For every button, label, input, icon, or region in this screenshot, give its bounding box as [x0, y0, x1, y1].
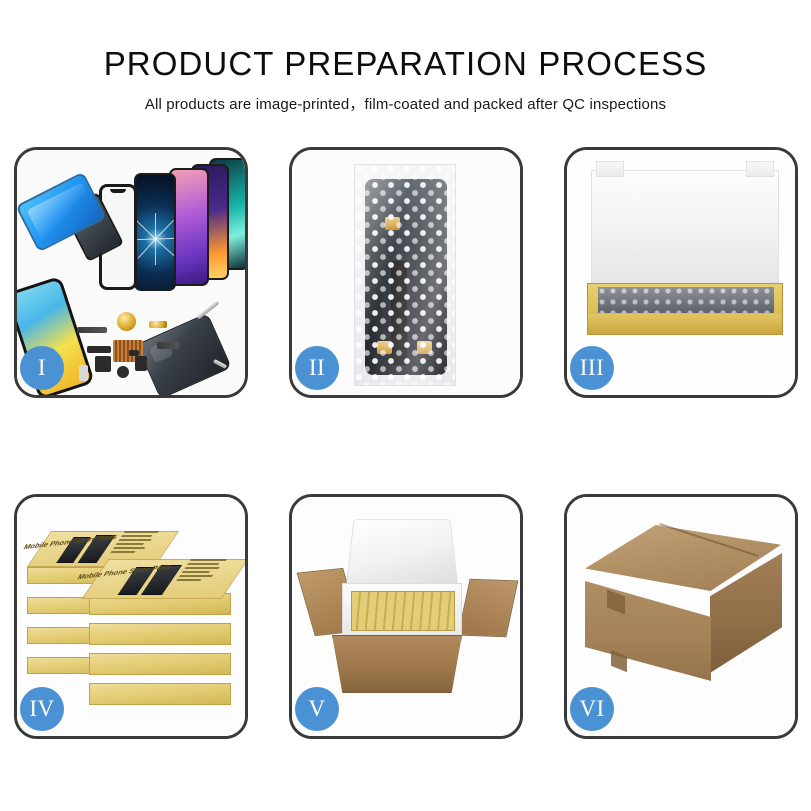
part-chip	[95, 356, 111, 372]
process-step-grid: I II	[14, 147, 798, 739]
part-battery-connector	[135, 356, 147, 371]
badge-step-2: II	[295, 346, 339, 390]
badge-step-3: III	[570, 346, 614, 390]
foam-lid	[346, 519, 458, 586]
header: PRODUCT PREPARATION PROCESS All products…	[0, 0, 811, 114]
bubble-cushion-layer	[598, 287, 774, 313]
box-tray-gold	[587, 283, 783, 335]
phone-cracked-dark	[134, 173, 176, 291]
bubble-bag	[354, 164, 456, 386]
crack-lines-icon	[136, 175, 174, 289]
part-camera-lens	[117, 366, 129, 378]
stacked-box-r4	[89, 683, 231, 705]
step-card-4: Mobile Phone Spare Parts Mobile Phone Sp…	[14, 494, 248, 739]
badge-step-4: IV	[20, 687, 64, 731]
stacked-box-r2	[89, 623, 231, 645]
part-sim-tray	[79, 365, 88, 381]
step-card-2: II	[289, 147, 523, 398]
step-card-5: V	[289, 494, 523, 739]
part-speaker	[117, 312, 136, 331]
product-preparation-infographic: PRODUCT PREPARATION PROCESS All products…	[0, 0, 811, 811]
part-flex-cable	[77, 327, 107, 333]
part-flex-strip	[157, 342, 179, 349]
stacked-box-r3	[89, 653, 231, 675]
carton-body	[332, 635, 462, 693]
foam-body	[342, 583, 462, 641]
badge-step-6: VI	[570, 687, 614, 731]
bag-sheen	[355, 165, 455, 385]
step-card-3: III	[564, 147, 798, 398]
part-gold-connector	[149, 321, 167, 328]
gold-boxes-inside	[351, 591, 455, 631]
page-title: PRODUCT PREPARATION PROCESS	[0, 44, 811, 84]
carton-flap-right	[458, 579, 519, 637]
badge-step-1: I	[20, 346, 64, 390]
step-card-1: I	[14, 147, 248, 398]
tray-front-panel	[588, 314, 782, 334]
carton-front-face	[585, 581, 711, 681]
box-lid-white	[591, 170, 779, 290]
badge-step-5: V	[295, 687, 339, 731]
part-small-clip	[129, 350, 139, 356]
step-card-6: VI	[564, 494, 798, 739]
page-subtitle: All products are image-printed，film-coat…	[0, 93, 811, 114]
part-connector-a	[87, 346, 111, 353]
